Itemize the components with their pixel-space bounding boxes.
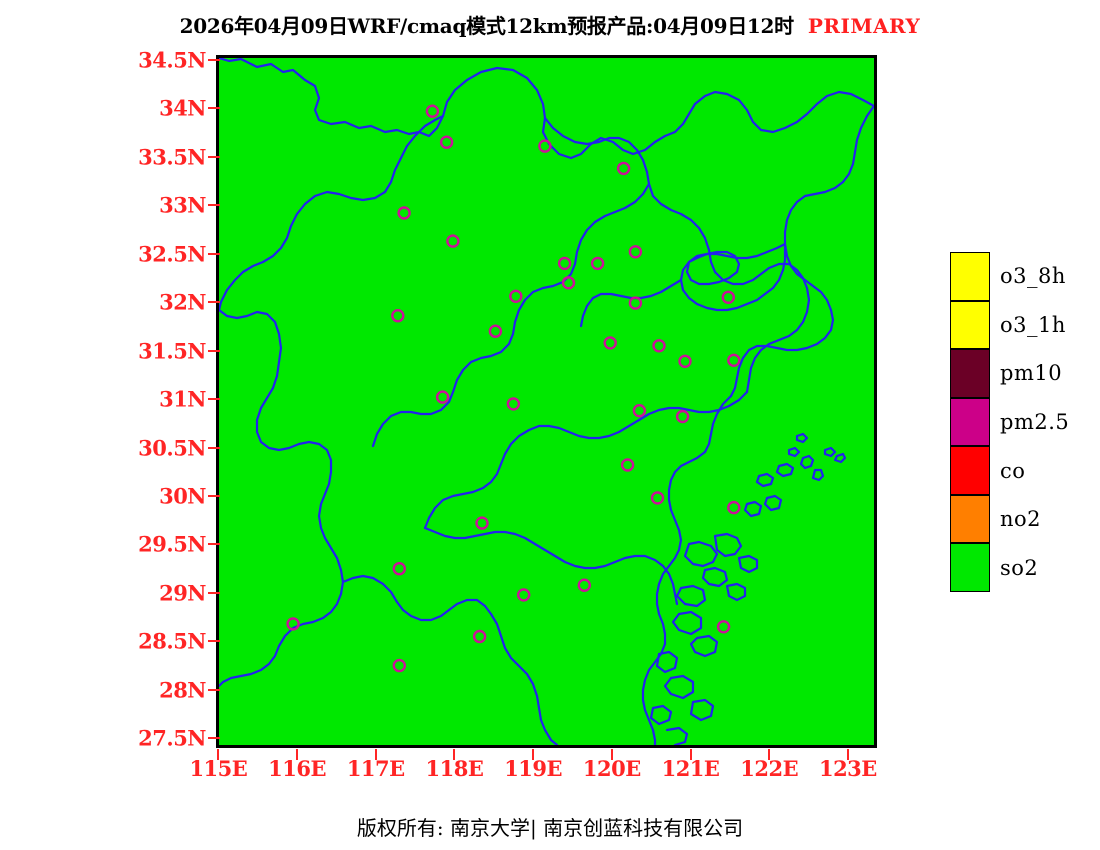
station-marker[interactable]	[652, 492, 663, 503]
y-axis-label: 34N	[159, 96, 206, 121]
legend-label: co	[1000, 459, 1025, 483]
station-marker[interactable]	[508, 398, 519, 409]
y-axis-label: 29.5N	[138, 532, 206, 557]
station-marker[interactable]	[677, 411, 688, 422]
y-axis-label: 31N	[159, 387, 206, 412]
legend-color-swatch	[950, 398, 990, 447]
y-axis-label: 34.5N	[138, 47, 206, 72]
station-marker[interactable]	[437, 392, 448, 403]
station-marker[interactable]	[399, 208, 410, 219]
y-axis-tick	[208, 350, 220, 352]
legend-label: pm2.5	[1000, 410, 1069, 434]
forecast-map[interactable]	[216, 55, 877, 748]
station-marker[interactable]	[447, 236, 458, 247]
legend-label: o3_1h	[1000, 313, 1066, 337]
title-bar: 2026年04月09日WRF/cmaq模式12km预报产品:04月09日12时P…	[0, 10, 1100, 39]
station-marker[interactable]	[718, 621, 729, 632]
y-axis-label: 29N	[159, 580, 206, 605]
station-marker[interactable]	[490, 326, 501, 337]
y-axis-tick	[208, 543, 220, 545]
station-marker[interactable]	[394, 563, 405, 574]
x-axis-label: 121E	[662, 756, 720, 781]
station-marker[interactable]	[630, 246, 641, 257]
y-axis-label: 28.5N	[138, 629, 206, 654]
x-axis-label: 123E	[819, 756, 877, 781]
y-axis-tick	[208, 107, 220, 109]
station-marker[interactable]	[723, 292, 734, 303]
y-axis-label: 30.5N	[138, 435, 206, 460]
page-title: 2026年04月09日WRF/cmaq模式12km预报产品:04月09日12时	[180, 14, 794, 38]
x-axis-label: 122E	[740, 756, 798, 781]
station-marker[interactable]	[680, 356, 691, 367]
legend-color-swatch	[950, 301, 990, 350]
y-axis-tick	[208, 592, 220, 594]
legend-item-no2[interactable]: no2	[950, 495, 1100, 544]
station-marker[interactable]	[728, 502, 739, 513]
y-axis-tick	[208, 253, 220, 255]
y-axis-tick	[208, 737, 220, 739]
y-axis-label: 33N	[159, 193, 206, 218]
x-axis-label: 116E	[268, 756, 326, 781]
legend-label: pm10	[1000, 361, 1062, 385]
y-axis-label: 33.5N	[138, 144, 206, 169]
legend-item-co[interactable]: co	[950, 446, 1100, 495]
pollutant-legend: o3_8ho3_1hpm10pm2.5cono2so2	[950, 252, 1100, 592]
station-marker[interactable]	[630, 298, 641, 309]
station-marker[interactable]	[539, 141, 550, 152]
y-axis-label: 28N	[159, 677, 206, 702]
y-axis-label: 27.5N	[138, 726, 206, 751]
y-axis-tick	[208, 398, 220, 400]
station-marker[interactable]	[474, 631, 485, 642]
y-axis-label: 32N	[159, 290, 206, 315]
x-axis-label: 115E	[189, 756, 247, 781]
x-axis-label: 117E	[347, 756, 405, 781]
y-axis-tick	[208, 495, 220, 497]
x-axis-label: 120E	[583, 756, 641, 781]
y-axis-label: 30N	[159, 484, 206, 509]
x-axis-label: 118E	[426, 756, 484, 781]
legend-color-swatch	[950, 252, 990, 301]
legend-label: so2	[1000, 556, 1038, 580]
station-marker[interactable]	[579, 580, 590, 591]
legend-color-swatch	[950, 495, 990, 544]
legend-item-pm10[interactable]: pm10	[950, 349, 1100, 398]
legend-item-o3_8h[interactable]: o3_8h	[950, 252, 1100, 301]
y-axis-tick	[208, 156, 220, 158]
y-axis-label: 32.5N	[138, 241, 206, 266]
y-axis-label: 31.5N	[138, 338, 206, 363]
station-marker[interactable]	[441, 137, 452, 148]
station-marker[interactable]	[654, 340, 665, 351]
x-axis-label: 119E	[504, 756, 562, 781]
station-marker[interactable]	[394, 660, 405, 671]
y-axis-tick	[208, 447, 220, 449]
y-axis-tick	[208, 204, 220, 206]
primary-pollutant-label: PRIMARY	[808, 14, 920, 38]
y-axis-tick	[208, 59, 220, 61]
station-marker[interactable]	[618, 163, 629, 174]
legend-item-so2[interactable]: so2	[950, 543, 1100, 592]
legend-label: no2	[1000, 507, 1041, 531]
map-vector-layer	[219, 58, 874, 745]
y-axis-tick	[208, 640, 220, 642]
station-marker[interactable]	[563, 277, 574, 288]
station-marker[interactable]	[510, 291, 521, 302]
copyright-footer: 版权所有: 南京大学| 南京创蓝科技有限公司	[0, 812, 1100, 841]
legend-color-swatch	[950, 446, 990, 495]
station-marker-layer	[288, 106, 740, 671]
legend-item-o3_1h[interactable]: o3_1h	[950, 301, 1100, 350]
station-marker[interactable]	[622, 460, 633, 471]
station-marker[interactable]	[518, 589, 529, 600]
station-marker[interactable]	[605, 337, 616, 348]
legend-color-swatch	[950, 543, 990, 592]
legend-color-swatch	[950, 349, 990, 398]
station-marker[interactable]	[728, 355, 739, 366]
station-marker[interactable]	[592, 258, 603, 269]
legend-item-pm2-5[interactable]: pm2.5	[950, 398, 1100, 447]
station-marker[interactable]	[427, 106, 438, 117]
y-axis-tick	[208, 301, 220, 303]
station-marker[interactable]	[634, 405, 645, 416]
station-marker[interactable]	[559, 258, 570, 269]
y-axis-tick	[208, 689, 220, 691]
legend-label: o3_8h	[1000, 264, 1066, 288]
station-marker[interactable]	[392, 310, 403, 321]
station-marker[interactable]	[477, 518, 488, 529]
